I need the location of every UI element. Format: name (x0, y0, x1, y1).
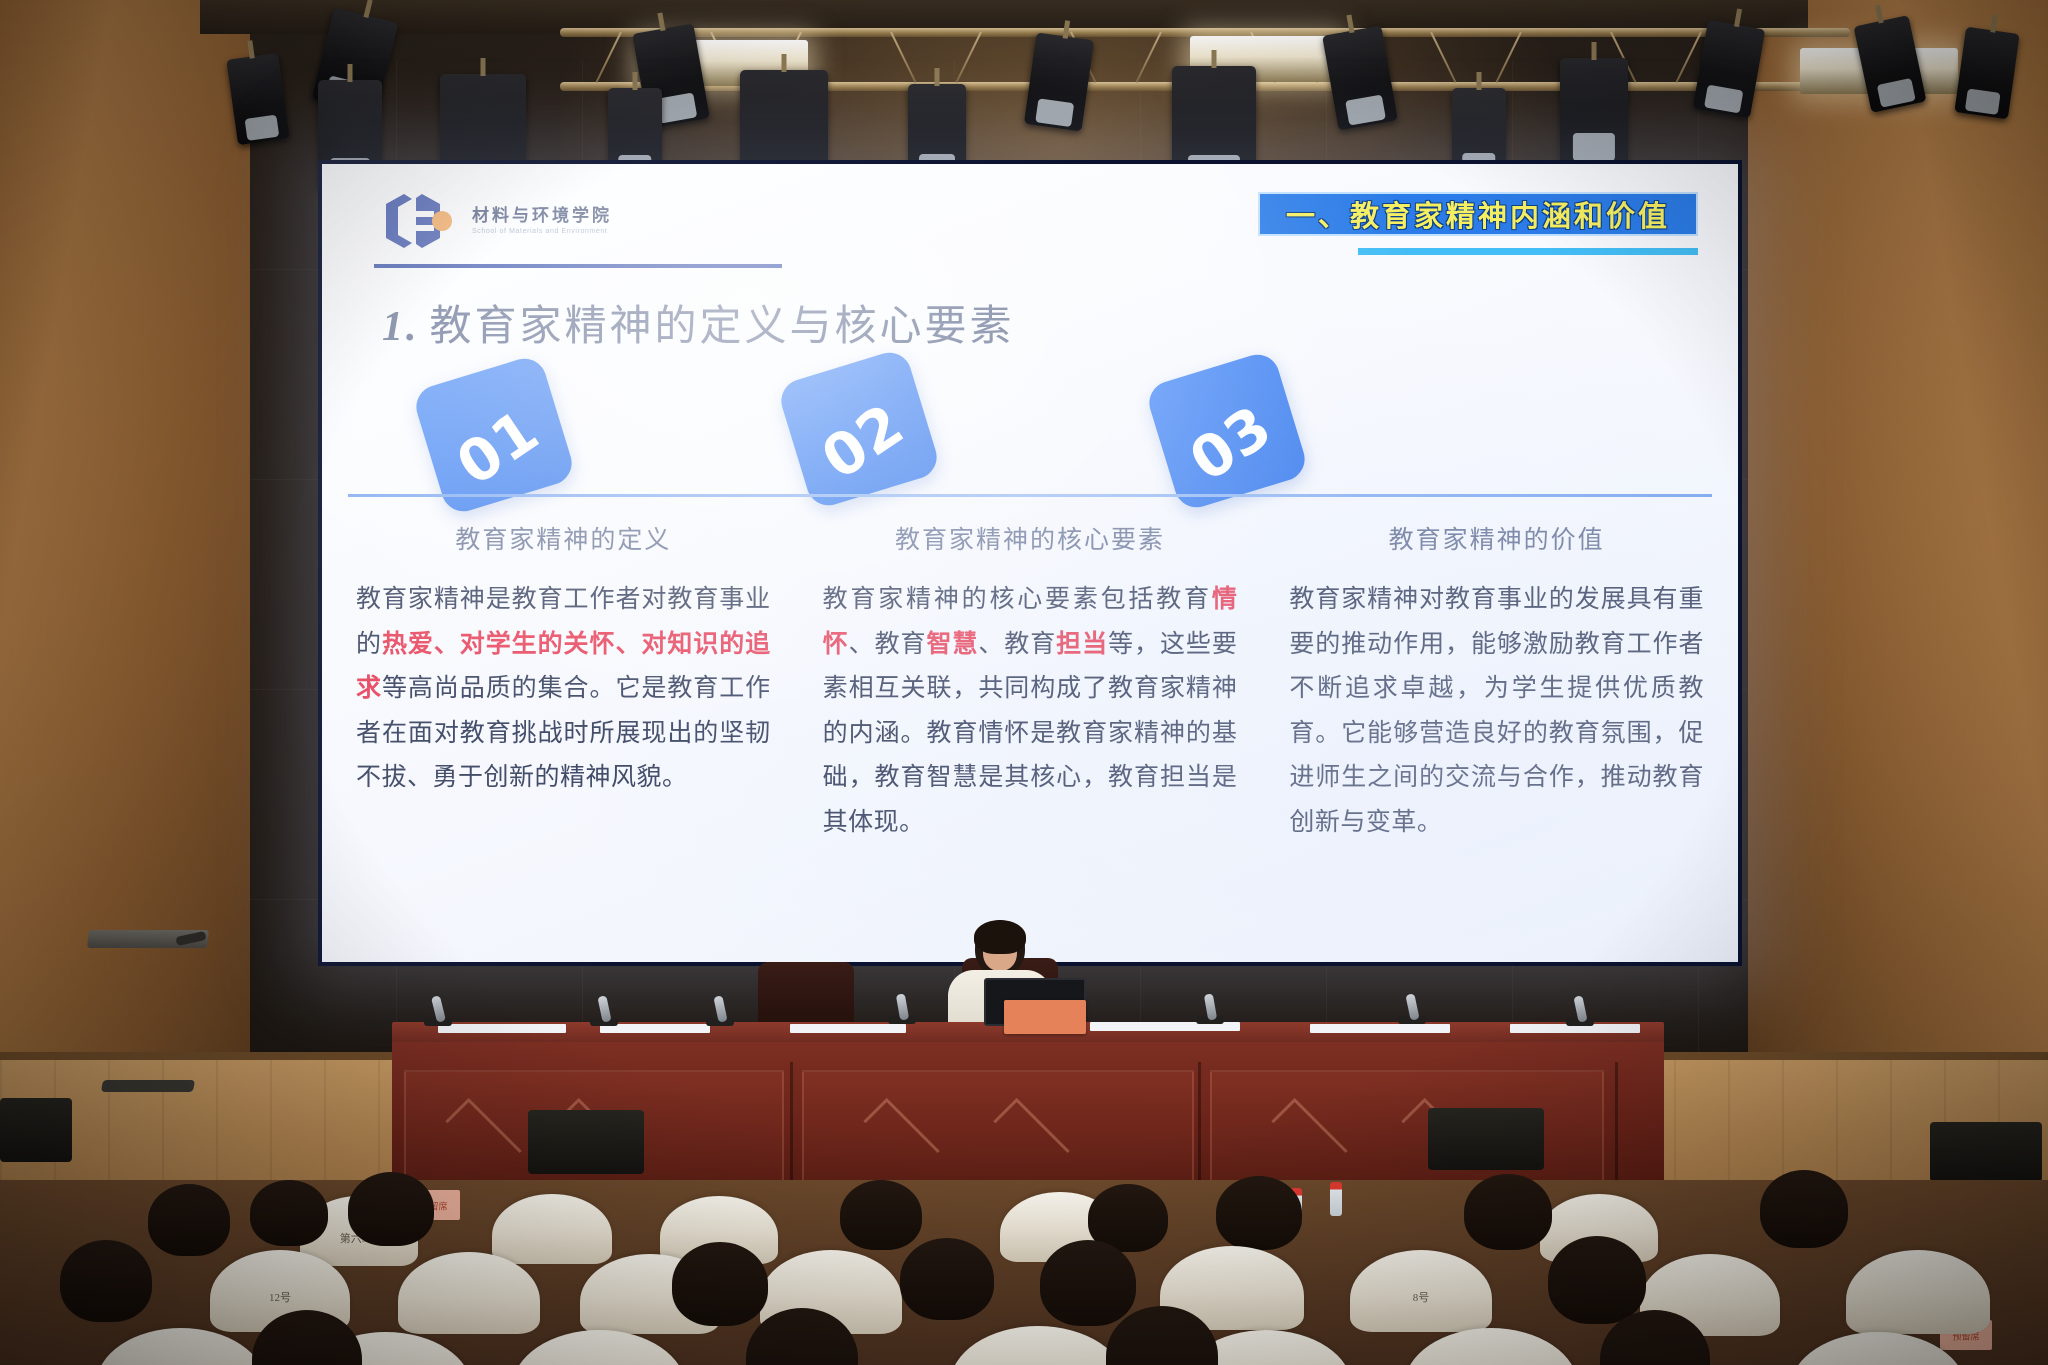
seat (512, 1330, 686, 1365)
light-yoke (633, 72, 638, 90)
light-yoke (1477, 72, 1482, 90)
audience-area: 预留席 预留席 第六3号 12号 8号 3号 (0, 1180, 2048, 1365)
number-card-02: 02 (776, 347, 942, 510)
panel-chevron (445, 1098, 521, 1174)
column-body: 教育家精神对教育事业的发展具有重要的推动作用，能够激励教育工作者不断追求卓越，为… (1281, 578, 1712, 845)
truss-brace (596, 32, 622, 83)
body-text: 、教育 (849, 631, 927, 658)
table-paper (790, 1024, 906, 1033)
light-yoke (1592, 42, 1597, 60)
page-title-text: 教育家精神的定义与核心要素 (430, 304, 1015, 350)
column-core-elements: 教育家精神的核心要素 教育家精神的核心要素包括教育情怀、教育智慧、教育担当等，这… (815, 520, 1246, 845)
seat (1846, 1250, 1990, 1334)
empty-chair (758, 962, 854, 1028)
presenter-name-card (1004, 1000, 1086, 1034)
page-title: 1.教育家精神的定义与核心要素 (382, 292, 1015, 353)
seat (398, 1252, 540, 1334)
audience-head (60, 1240, 152, 1322)
presenter-hair (974, 920, 1026, 954)
floor-speaker (0, 1098, 72, 1162)
number-card-03: 03 (1144, 349, 1310, 512)
column-heading: 教育家精神的价值 (1281, 520, 1712, 556)
light-yoke (935, 68, 940, 86)
light-lens (1035, 98, 1074, 127)
projection-screen: 材料与环境学院 School of Materials and Environm… (318, 160, 1742, 966)
seat (1404, 1328, 1578, 1365)
audience-head (1760, 1170, 1848, 1248)
table-paper (1310, 1024, 1450, 1033)
floor-speaker (1428, 1108, 1544, 1170)
light-yoke (481, 58, 486, 76)
water-bottle (1330, 1182, 1342, 1216)
truss-brace (956, 32, 982, 83)
panel-chevron (993, 1098, 1069, 1174)
light-yoke (782, 54, 787, 72)
number-card-02-label: 02 (809, 390, 916, 493)
light-lens (244, 114, 279, 141)
column-body: 教育家精神的核心要素包括教育情怀、教育智慧、教育担当等，这些要素相互关联，共同构… (815, 578, 1246, 845)
podium (88, 930, 208, 1110)
seat (492, 1194, 612, 1264)
light-lens (1345, 95, 1386, 126)
school-name-en: School of Materials and Environment (472, 228, 612, 235)
seat: 3号 (96, 1328, 266, 1365)
body-text: 等，这些要素相互关联，共同构成了教育家精神的内涵。教育情怀是教育家精神的基础，教… (823, 631, 1238, 836)
audience-head (1216, 1176, 1302, 1250)
light-lens (1877, 78, 1916, 108)
light-lens (1965, 88, 2001, 115)
truss-brace (1496, 32, 1522, 83)
seat (950, 1326, 1126, 1365)
section-banner: 一、教育家精神内涵和价值 (1258, 192, 1698, 236)
audience-head (1040, 1240, 1136, 1326)
panel-chevron (863, 1098, 939, 1174)
right-wall (1748, 0, 2048, 1140)
column-heading: 教育家精神的定义 (348, 520, 779, 556)
podium-base (101, 1080, 195, 1092)
body-text: 教育家精神对教育事业的发展具有重要的推动作用，能够激励教育工作者不断追求卓越，为… (1289, 586, 1704, 836)
number-card-01: 01 (411, 353, 577, 516)
banner-accent-bar (1358, 248, 1698, 255)
body-text: 、教育 (978, 631, 1056, 658)
moving-head-light (1560, 58, 1628, 164)
number-card-01-label: 01 (444, 396, 551, 499)
section-banner-text: 一、教育家精神内涵和价值 (1286, 193, 1670, 235)
seat-label: 12号 (269, 1289, 291, 1305)
presenter-head (975, 920, 1025, 976)
number-cards: 01 02 03 (322, 364, 1738, 504)
header-rule (374, 264, 782, 268)
column-definition: 教育家精神的定义 教育家精神是教育工作者对教育事业的热爱、对学生的关怀、对知识的… (348, 520, 779, 845)
hexagon-ce-monogram-icon (374, 190, 460, 252)
light-yoke (348, 64, 353, 82)
auditorium-scene: 材料与环境学院 School of Materials and Environm… (0, 0, 2048, 1365)
audience-head (900, 1238, 994, 1320)
podium-column (130, 946, 164, 1086)
seat: 8号 (1350, 1250, 1492, 1332)
highlighted-phrase: 智慧 (926, 631, 978, 658)
table-paper (438, 1024, 566, 1033)
body-text: 教育家精神的核心要素包括教育 (823, 586, 1212, 613)
audience-head (1464, 1174, 1552, 1250)
truss-brace (1430, 32, 1456, 83)
light-lens (1704, 84, 1743, 113)
column-body: 教育家精神是教育工作者对教育事业的热爱、对学生的关怀、对知识的追求等高尚品质的集… (348, 578, 779, 801)
audience-head (148, 1184, 230, 1256)
highlighted-phrase: 担当 (1056, 631, 1108, 658)
truss-brace (1136, 32, 1162, 83)
audience-head (1548, 1236, 1646, 1324)
number-card-03-label: 03 (1177, 392, 1284, 495)
audience-head (672, 1242, 768, 1326)
column-heading: 教育家精神的核心要素 (815, 520, 1246, 556)
light-lens (1573, 133, 1615, 161)
column-value: 教育家精神的价值 教育家精神对教育事业的发展具有重要的推动作用，能够激励教育工作… (1281, 520, 1712, 845)
audience-head (250, 1180, 328, 1246)
floor-speaker (528, 1110, 644, 1174)
light-yoke (1212, 50, 1217, 68)
panel-chevron (1271, 1098, 1347, 1174)
body-text: 等高尚品质的集合。它是教育工作者在面对教育挑战时所展现出的坚韧不拔、勇于创新的精… (356, 675, 771, 791)
truss-brace (890, 32, 916, 83)
school-name-cn: 材料与环境学院 (472, 207, 612, 225)
audience-head (840, 1180, 922, 1250)
presentation-slide: 材料与环境学院 School of Materials and Environm… (322, 164, 1738, 962)
floor-speaker (1930, 1122, 2042, 1182)
audience-head (348, 1172, 434, 1246)
horizontal-divider (348, 494, 1712, 497)
page-title-number: 1. (382, 304, 420, 350)
content-columns: 教育家精神的定义 教育家精神是教育工作者对教育事业的热爱、对学生的关怀、对知识的… (348, 520, 1712, 845)
school-logo: 材料与环境学院 School of Materials and Environm… (374, 190, 612, 252)
school-name: 材料与环境学院 School of Materials and Environm… (472, 207, 612, 235)
seat-label: 8号 (1413, 1289, 1430, 1305)
slide-header: 材料与环境学院 School of Materials and Environm… (322, 164, 1738, 276)
